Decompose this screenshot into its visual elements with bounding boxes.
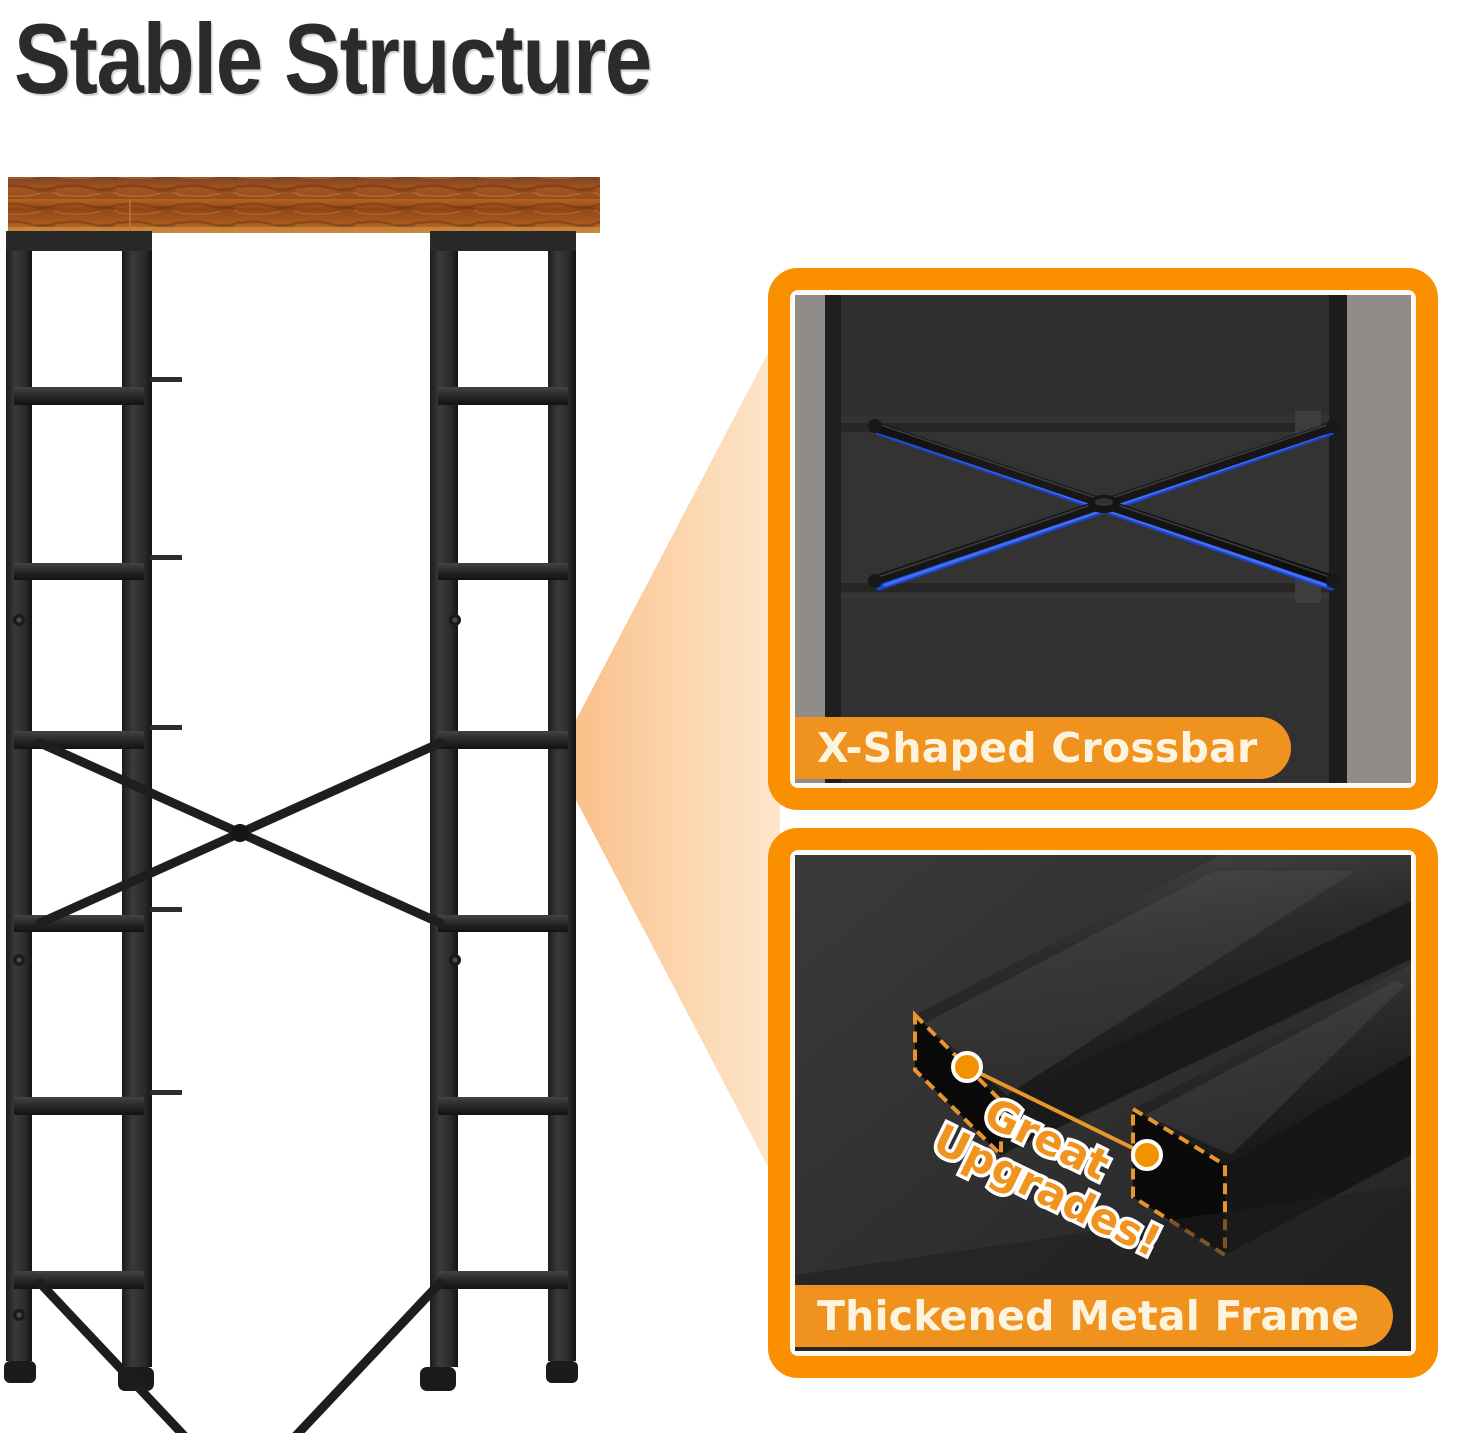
shelf-product-photo (0, 165, 620, 1433)
panel-inner-crossbar: X-Shaped Crossbar (790, 290, 1416, 788)
metal-tube-photo: Great Upgrades! (795, 855, 1411, 1351)
panel-label-crossbar: X-Shaped Crossbar (795, 717, 1291, 779)
panel-label-crossbar-text: X-Shaped Crossbar (817, 724, 1257, 772)
crossbar-center-joint (231, 824, 249, 842)
wood-top (8, 177, 600, 233)
crossbar-photo (795, 295, 1411, 783)
callout-panel-crossbar[interactable]: X-Shaped Crossbar (768, 268, 1438, 810)
annotation-dot-front (1133, 1141, 1161, 1169)
v-shaped-brace (40, 1283, 440, 1433)
left-post-group (4, 231, 182, 1391)
right-post-group (420, 231, 578, 1391)
annotation-dot-back (953, 1053, 981, 1081)
panel-inner-frame: Great Upgrades! Thickened Metal Frame (790, 850, 1416, 1356)
page-title: Stable Structure (14, 2, 651, 116)
panel-label-frame: Thickened Metal Frame (795, 1285, 1393, 1347)
panel-label-frame-text: Thickened Metal Frame (817, 1292, 1359, 1340)
callout-panel-frame[interactable]: Great Upgrades! Thickened Metal Frame (768, 828, 1438, 1378)
product-feature-graphic: Stable Structure (0, 0, 1460, 1433)
